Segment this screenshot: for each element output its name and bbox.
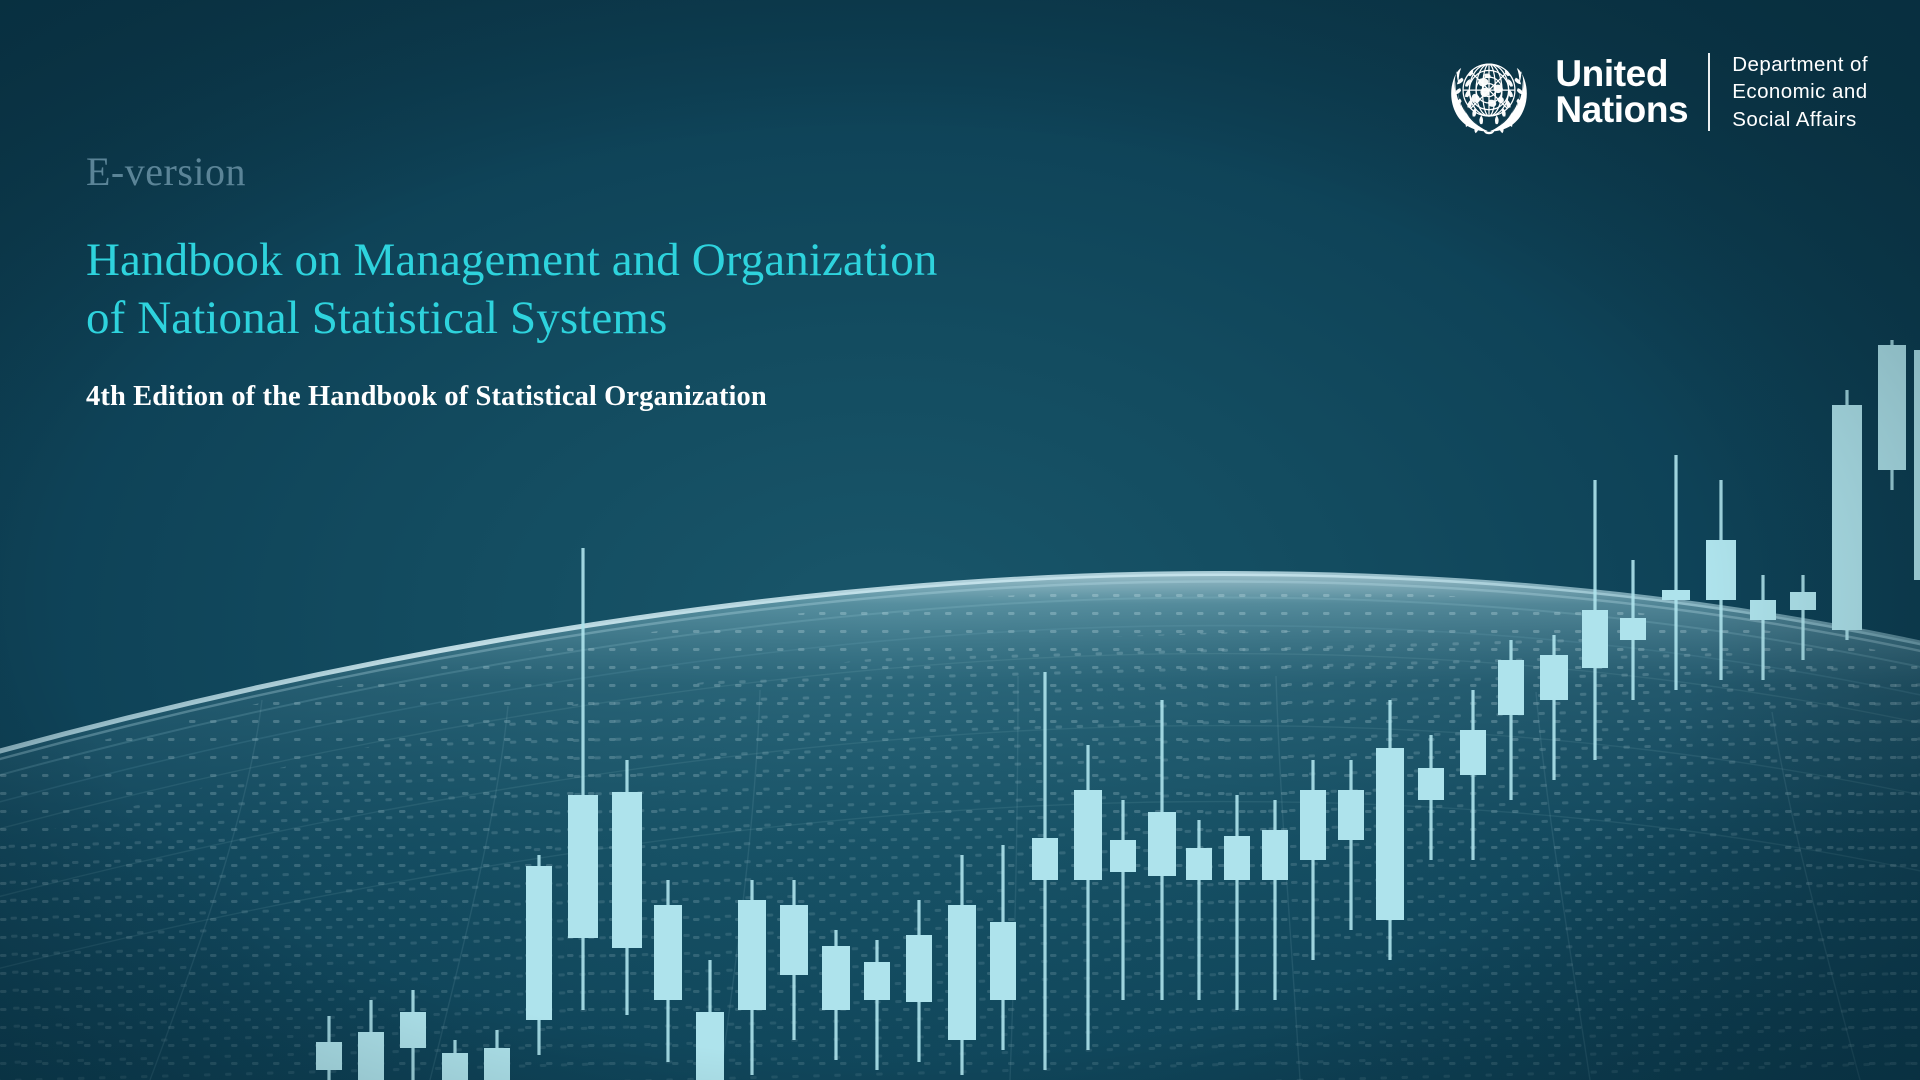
candlestick-wick (1552, 635, 1555, 780)
candlestick-body (568, 795, 598, 938)
page-title: Handbook on Management and Organization … (86, 231, 937, 348)
candlestick-wick (369, 1000, 372, 1080)
candlestick-body (1338, 790, 1364, 840)
candlestick-body (1878, 345, 1906, 470)
desa-department-name: Department of Economic and Social Affair… (1732, 51, 1868, 133)
candlestick-body (1460, 730, 1486, 775)
un-emblem-icon (1441, 44, 1537, 140)
candlestick-wick (1197, 820, 1200, 1000)
publication-cover: United Nations Department of Economic an… (0, 0, 1920, 1080)
candlestick-body (1620, 618, 1646, 640)
candlestick-wick (1235, 795, 1238, 1010)
candlestick-wick (1273, 800, 1276, 1000)
candlestick-body (906, 935, 932, 1002)
candlestick-body (400, 1012, 426, 1048)
candlestick-body (1832, 405, 1862, 630)
candlestick-wick (1719, 480, 1722, 680)
title-line-2: of National Statistical Systems (86, 289, 937, 347)
candlestick-body (1914, 350, 1920, 580)
candlestick-body (1662, 590, 1690, 600)
candlestick-wick (1801, 575, 1804, 660)
candlestick-body (780, 905, 808, 975)
candlestick-body (654, 905, 682, 1000)
candlestick-wick (1086, 745, 1089, 1050)
candlestick-wick (1043, 672, 1046, 1070)
candlestick-body (948, 905, 976, 1040)
candlestick-body (612, 792, 642, 948)
candlestick-wick (1674, 455, 1677, 690)
candlestick-body (526, 866, 552, 1020)
candlestick-body (1706, 540, 1736, 600)
candlestick-body (864, 962, 890, 1000)
candlestick-body (1376, 748, 1404, 920)
candlestick-wick (960, 855, 963, 1075)
candlestick-body (1750, 600, 1776, 620)
candlestick-body (1582, 610, 1608, 668)
candlestick-wick (1121, 800, 1124, 1000)
logo-divider (1708, 53, 1710, 131)
candlestick-body (1300, 790, 1326, 860)
candlestick-body (738, 900, 766, 1010)
edition-tag: E-version (86, 148, 937, 195)
candlestick-body (358, 1032, 384, 1080)
candlestick-wick (750, 880, 753, 1075)
department-line-1: Department of (1732, 51, 1868, 78)
candlestick-body (1540, 655, 1568, 700)
candlestick-wick (1001, 845, 1004, 1050)
candlestick-body (1148, 812, 1176, 876)
un-desa-logo-lockup: United Nations Department of Economic an… (1441, 44, 1868, 140)
candlestick-wick (1631, 560, 1634, 700)
candlestick-wick (495, 1030, 498, 1080)
candlestick-body (316, 1042, 342, 1070)
candlestick-body (442, 1053, 468, 1080)
candlestick-body (1418, 768, 1444, 800)
candlestick-wick (834, 930, 837, 1060)
candlestick-wick (792, 880, 795, 1040)
un-wordmark-line-1: United (1555, 56, 1688, 92)
candlestick-wick (1761, 575, 1764, 680)
candlestick-body (484, 1048, 510, 1080)
un-wordmark-line-2: Nations (1555, 92, 1688, 128)
page-subtitle: 4th Edition of the Handbook of Statistic… (86, 381, 937, 413)
candlestick-body (1032, 838, 1058, 880)
department-line-2: Economic and (1732, 78, 1868, 105)
cover-text-block: E-version Handbook on Management and Org… (86, 148, 937, 413)
candlestick-wick (708, 960, 711, 1080)
candlestick-body (696, 1012, 724, 1080)
candlestick-wick (625, 760, 628, 1015)
candlestick-wick (1509, 640, 1512, 800)
un-wordmark: United Nations (1555, 56, 1688, 128)
candlestick-body (1074, 790, 1102, 880)
candlestick-wick (1593, 480, 1596, 760)
candlestick-body (1224, 836, 1250, 880)
candlestick-wick (1845, 390, 1848, 640)
candlestick-wick (1890, 340, 1893, 490)
candlestick-wick (1429, 735, 1432, 860)
candlestick-wick (1471, 690, 1474, 860)
globe-horizon-graphic (0, 574, 1920, 1080)
candlestick-body (990, 922, 1016, 1000)
candlestick-wick (453, 1040, 456, 1080)
candlestick-body (1498, 660, 1524, 715)
candlestick-wick (327, 1016, 330, 1080)
candlestick-body (1790, 592, 1816, 610)
candlestick-wick (411, 990, 414, 1080)
candlestick-wick (1388, 700, 1391, 960)
candlestick-body (822, 946, 850, 1010)
candlestick-body (1262, 830, 1288, 880)
candlestick-wick (581, 548, 584, 1010)
candlestick-wick (1349, 760, 1352, 930)
candlestick-wick (875, 940, 878, 1070)
candlestick-wick (917, 900, 920, 1062)
candlestick-series (316, 340, 1920, 1080)
candlestick-wick (1311, 760, 1314, 960)
title-line-1: Handbook on Management and Organization (86, 231, 937, 289)
candlestick-body (1186, 848, 1212, 880)
candlestick-wick (1160, 700, 1163, 1000)
candlestick-wick (666, 880, 669, 1062)
candlestick-wick (537, 855, 540, 1055)
department-line-3: Social Affairs (1732, 106, 1868, 133)
candlestick-body (1110, 840, 1136, 872)
